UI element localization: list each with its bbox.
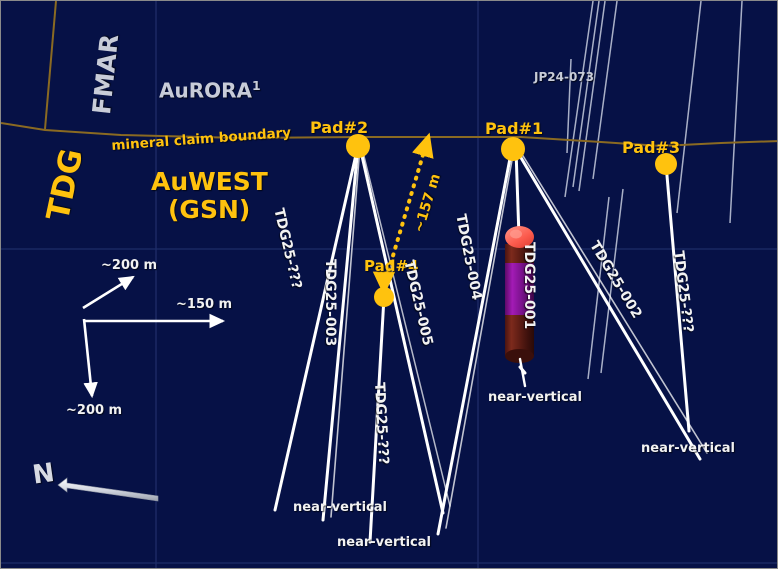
hole-label-tdg25-unknown-b[interactable]: TDG25-??? [372, 382, 390, 465]
claim-label-auwest-sub: (GSN) [168, 197, 250, 222]
pad-label-pad1[interactable]: Pad#1 [485, 121, 543, 137]
drill-plan-map: FMAR AuRORA1 TDG AuWEST (GSN) mineral cl… [0, 0, 778, 569]
pad-marker-pad2[interactable] [346, 134, 370, 158]
scale-bar [83, 277, 223, 396]
orientation-note-4: near-vertical [641, 442, 735, 455]
orientation-note-2: near-vertical [337, 536, 431, 549]
hole-label-tdg25-001[interactable]: TDG25-001 [522, 242, 536, 329]
orientation-note-1: near-vertical [293, 501, 387, 514]
scale-axis-up [83, 277, 133, 308]
pad-marker-pad4[interactable] [374, 287, 394, 307]
north-arrow [58, 478, 158, 501]
scale-label-right: ~150 m [176, 298, 232, 311]
hole-trace-tdg25-004b [446, 149, 514, 528]
claim-label-aurora-superscript: 1 [252, 78, 261, 93]
hole-label-tdg25-003[interactable]: TDG25-003 [323, 259, 337, 346]
historic-hole-label-jp24-073[interactable]: JP24-073 [534, 71, 594, 83]
compass-label-north: N [31, 460, 56, 489]
scale-label-up: ~200 m [101, 259, 157, 272]
claim-label-aurora-text: AuRORA [159, 79, 252, 103]
pad-marker-pad3[interactable] [655, 153, 677, 175]
claim-label-auwest: AuWEST [151, 169, 268, 194]
claim-label-aurora: AuRORA1 [159, 80, 261, 101]
hole-trace-tdg25-004 [438, 148, 512, 534]
scale-axis-down [84, 319, 92, 396]
orientation-note-3: near-vertical [488, 391, 582, 404]
scale-label-down: ~200 m [66, 404, 122, 417]
historic-drill-traces [565, 1, 742, 379]
hole-trace-tdg25-001 [516, 150, 519, 237]
pad-marker-pad1[interactable] [501, 137, 525, 161]
